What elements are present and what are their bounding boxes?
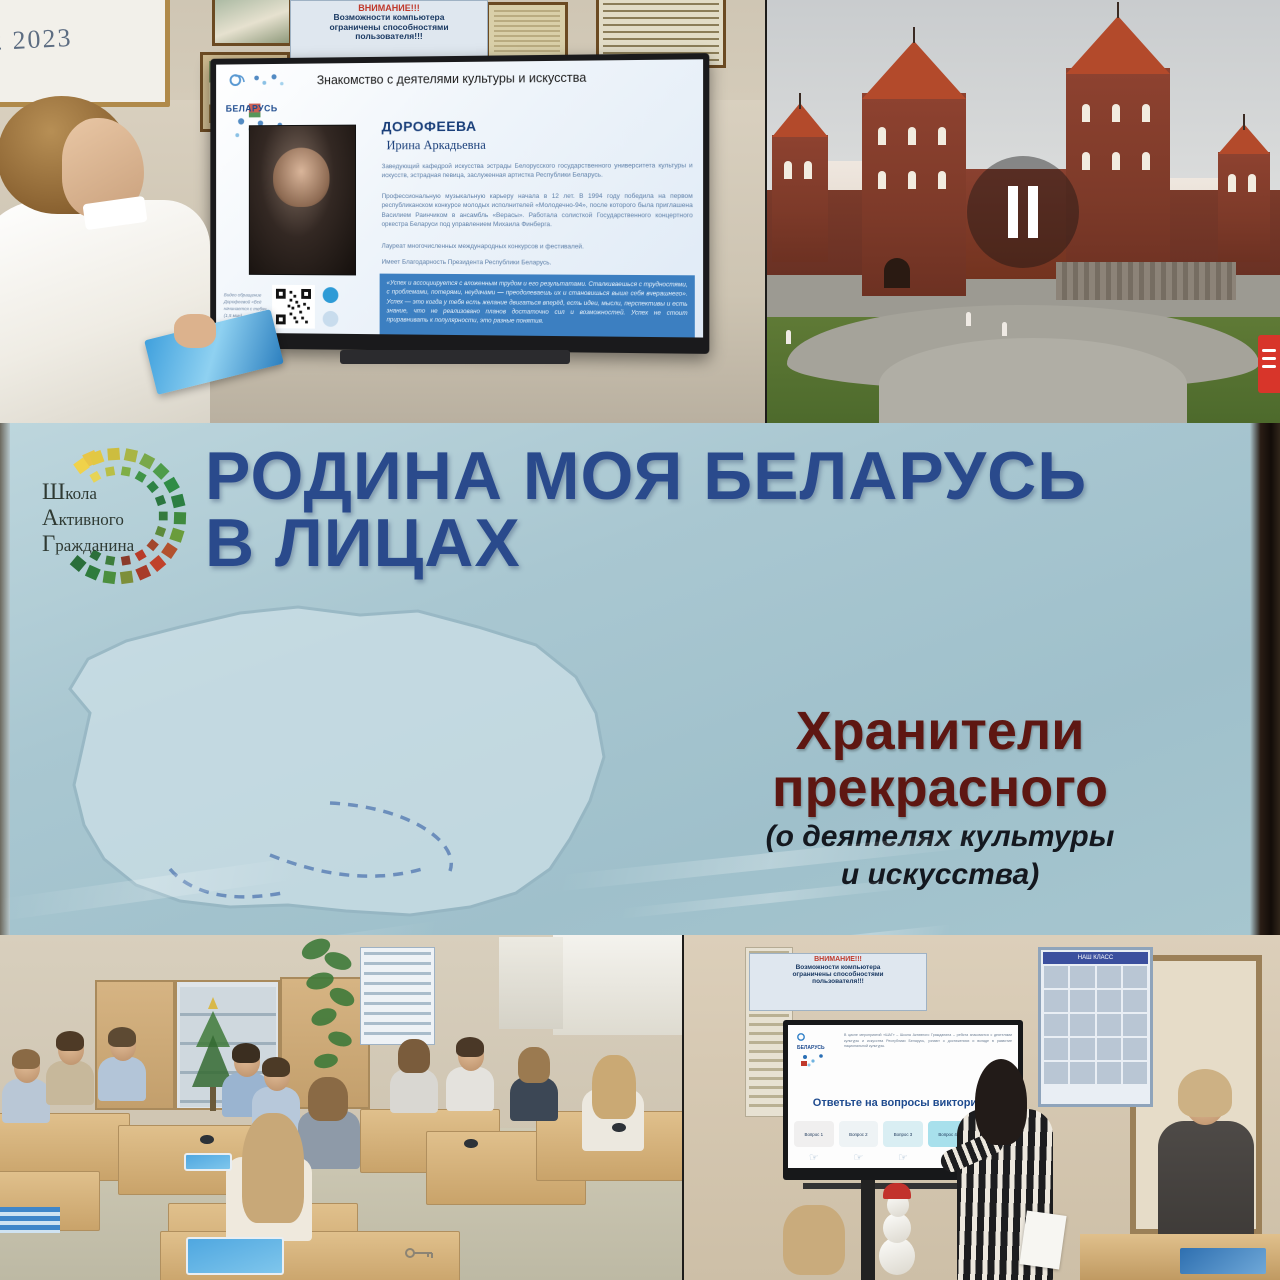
red-street-sign [1258, 335, 1280, 393]
castle-tower-far-left [772, 135, 828, 262]
slide-quote-block: «Успех и ассоциируется с вложенным трудо… [380, 274, 695, 338]
slide-portrait-photo [249, 125, 356, 276]
seated-student-hair [783, 1205, 845, 1275]
walking-path-secondary [879, 338, 1187, 423]
pause-bar-left [1008, 186, 1018, 238]
interactive-panel[interactable]: БЕЛАРУСЬ Знакомство с деятелями культуры… [210, 53, 709, 354]
slide-paragraph-1: Заведующий кафедрой искусства эстрады Бе… [382, 161, 693, 180]
shag-line-2: Активного [42, 505, 188, 531]
hand-cursor-icon-2: ☞ [839, 1151, 879, 1164]
topic-title-line-1: Хранители [690, 703, 1190, 760]
classroom-window-center [499, 937, 563, 1029]
banner-left-edge [0, 423, 10, 935]
shag-line-3: Гражданина [42, 531, 188, 557]
slide-paragraph-3: Лауреат многочисленных международных кон… [382, 242, 693, 252]
banner-rodina-moya-belarus: Школа Активного Гражданина РОДИНА МОЯ БЕ… [0, 423, 1280, 935]
photo-mir-castle[interactable] [766, 0, 1280, 423]
slide-person-name: Ирина Аркадьевна [387, 138, 486, 153]
shag-line-1: Школа [42, 479, 188, 505]
blue-booklet [1180, 1248, 1266, 1274]
attention-poster: ВНИМАНИЕ!!! Возможности компьютера огран… [290, 0, 488, 62]
qr-code-icon [274, 287, 313, 327]
hand-click-icon [323, 311, 339, 327]
castle-stone-base [1056, 262, 1236, 300]
banner-right-edge [1250, 423, 1280, 935]
belarus-map-outline-icon [30, 593, 650, 933]
banner-topic-title: Хранители прекрасного (о деятелях культу… [690, 703, 1190, 892]
castle-tower-right [1066, 68, 1170, 288]
keys-icon [404, 1245, 438, 1261]
wall-picture-2 [486, 2, 568, 60]
top-row: ВНИМАНИЕ!!! Возможности компьютера огран… [0, 0, 1280, 423]
photo-collage: ВНИМАНИЕ!!! Возможности компьютера огран… [0, 0, 1280, 1280]
topic-subtitle-line-1: (о деятелях культуры [690, 820, 1190, 854]
svg-text:БЕЛАРУСЬ: БЕЛАРУСЬ [797, 1045, 825, 1051]
photo-student-presenting: ВНИМАНИЕ!!! Возможности компьютера огран… [0, 0, 766, 423]
presenter-teacher [951, 1065, 1061, 1280]
hand-cursor-icon-1: ☞ [794, 1151, 834, 1164]
photo-classroom-students [0, 935, 683, 1280]
snowman-decoration [871, 1185, 923, 1275]
quiz-button-2[interactable]: Вопрос 2 [839, 1121, 879, 1147]
seated-student-back [769, 1205, 861, 1280]
slide-paragraph-2: Профессиональную музыкальную карьеру нач… [382, 192, 693, 230]
photo-classroom-teacher: ВНИМАНИЕ!!! Возможности компьютера огран… [683, 935, 1280, 1280]
topic-subtitle-line-2: и искусства) [690, 858, 1190, 892]
quiz-button-1[interactable]: Вопрос 1 [794, 1121, 834, 1147]
visitor-2 [966, 312, 971, 326]
mouse-3[interactable] [612, 1123, 626, 1132]
teacher-papers [1019, 1210, 1066, 1269]
slide-paragraph-4: Имеет Благодарность Президента Республик… [382, 258, 693, 269]
castle-gate-arch [884, 258, 910, 288]
observer-hair [1178, 1069, 1232, 1117]
shag-logo: Школа Активного Гражданина [28, 441, 208, 591]
quiz-slide-intro: В цикле мероприятий «ШАГ» – Школа Активн… [844, 1033, 1012, 1050]
visitor-3 [786, 330, 791, 344]
wall-info-board [360, 947, 435, 1045]
shag-round-icon [323, 287, 339, 303]
banner-glare-3 [790, 925, 950, 935]
shag-logo-text: Школа Активного Гражданина [42, 479, 188, 556]
topic-title-line-2: прекрасного [690, 760, 1190, 817]
wall-picture-1 [212, 0, 292, 46]
slide-person-surname: ДОРОФЕЕВА [382, 118, 477, 135]
castle-tower-far-right [1218, 152, 1270, 262]
student-presenter [0, 96, 214, 423]
attention-poster-2-line-3: пользователя!!! [752, 978, 924, 985]
video-pause-button[interactable] [967, 156, 1079, 268]
banner-title-line-1: РОДИНА МОЯ БЕЛАРУСЬ [205, 438, 1087, 514]
bottom-row: ВНИМАНИЕ!!! Возможности компьютера огран… [0, 935, 1280, 1280]
tablet-mid[interactable] [184, 1153, 232, 1171]
hand-cursor-icon-3: ☞ [883, 1151, 923, 1164]
teacher-hair [975, 1059, 1027, 1145]
hanging-plant-icon [290, 935, 370, 1085]
mouse-1[interactable] [200, 1135, 214, 1144]
banner-title: РОДИНА МОЯ БЕЛАРУСЬ В ЛИЦАХ [205, 443, 1205, 576]
whiteboard-date: 2 2023 [0, 23, 73, 57]
tablet-front[interactable] [186, 1237, 284, 1275]
attention-poster-2-line-1: Возможности компьютера [752, 964, 924, 971]
panel-divider-top [765, 0, 767, 423]
panel-divider-bottom [682, 935, 684, 1280]
classroom-window-right [553, 935, 683, 1035]
shag-mini-logo-icon: БЕЛАРУСЬ [793, 1031, 837, 1071]
pause-bar-right [1028, 186, 1038, 238]
mouse-2[interactable] [464, 1139, 478, 1148]
visitor-1 [1002, 322, 1007, 336]
attention-poster-2: ВНИМАНИЕ!!! Возможности компьютера огран… [749, 953, 927, 1011]
attention-poster-2-title: ВНИМАНИЕ!!! [752, 956, 924, 964]
slide-logo-word: БЕЛАРУСЬ [226, 103, 278, 113]
stack-of-books [0, 1207, 60, 1233]
snowman-hat [883, 1183, 911, 1199]
class-info-board-header: НАШ КЛАСС [1043, 952, 1148, 964]
slide-header: Знакомство с деятелями культуры и искусс… [317, 70, 695, 88]
presentation-slide: БЕЛАРУСЬ Знакомство с деятелями культуры… [216, 59, 703, 337]
panel-stand [340, 350, 570, 364]
quiz-button-3[interactable]: Вопрос 3 [883, 1121, 923, 1147]
student-hand [174, 314, 216, 348]
castle-tower-left [862, 93, 966, 296]
qr-code[interactable] [272, 285, 315, 329]
attention-poster-line-3: пользователя!!! [294, 32, 484, 42]
belarus-map-infographic [30, 593, 650, 933]
banner-title-line-2: В ЛИЦАХ [205, 510, 1205, 577]
whiteboard: 2 2023 [0, 0, 170, 107]
attention-poster-2-line-2: ограничены способностями [752, 971, 924, 978]
